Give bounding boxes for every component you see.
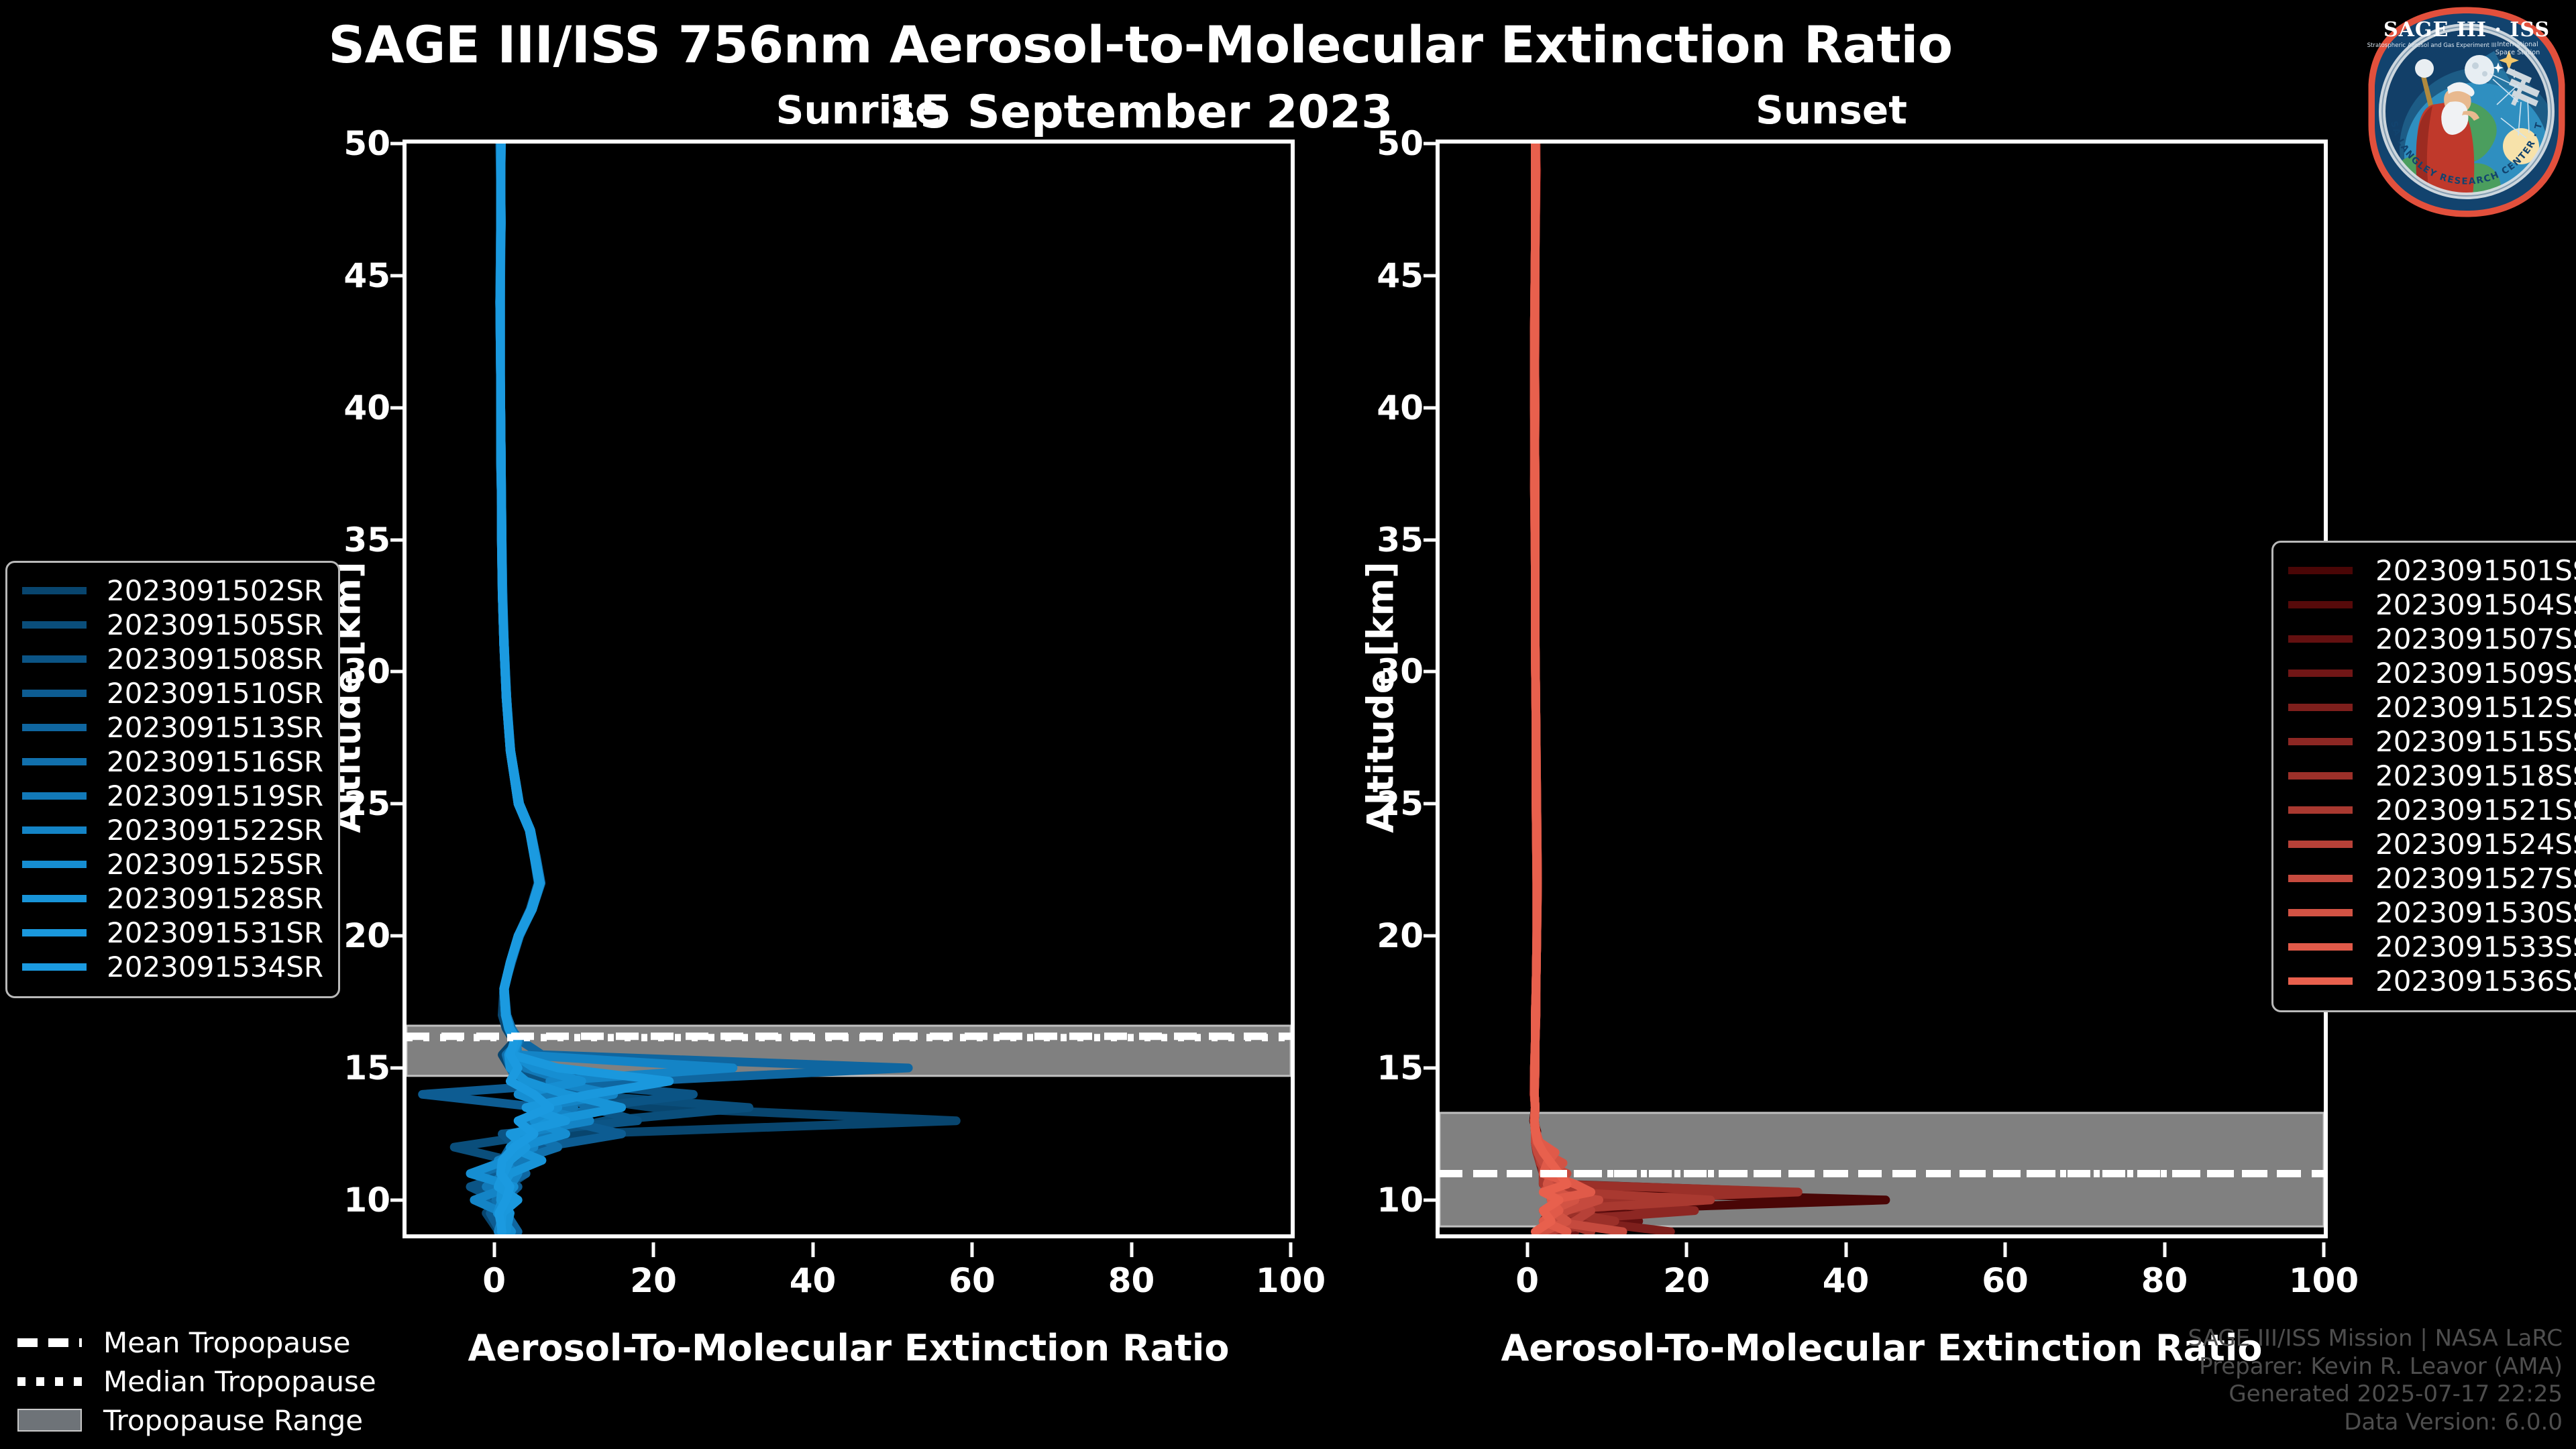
x-tick-mark (1289, 1242, 1293, 1257)
legend-color-swatch (22, 895, 87, 902)
y-tick-mark (390, 274, 402, 277)
y-tick-label: 45 (1316, 256, 1424, 295)
y-tick-label: 35 (283, 521, 390, 559)
legend-item-label: 2023091533SS (2375, 930, 2576, 963)
y-tick-label: 50 (1316, 124, 1424, 163)
legend-item[interactable]: 2023091536SS (2288, 964, 2576, 998)
y-tick-label: 20 (1316, 916, 1424, 955)
legend-item-label: 2023091522SR (107, 814, 323, 847)
y-tick-mark (390, 1198, 402, 1201)
y-tick-label: 10 (283, 1181, 390, 1220)
panel-title-sunrise: Sunrise (718, 87, 1000, 133)
plot-area-sunset (1436, 140, 2328, 1238)
legend-item[interactable]: 2023091527SS (2288, 861, 2576, 896)
y-tick-label: 15 (1316, 1049, 1424, 1087)
legend-color-swatch (2288, 772, 2353, 780)
y-tick-label: 25 (1316, 784, 1424, 823)
credits-line-mission: SAGE III/ISS Mission | NASA LaRC (2188, 1325, 2563, 1353)
x-tick-mark (1130, 1242, 1133, 1257)
legend-item-label: 2023091531SR (107, 916, 323, 949)
legend-item-label: 2023091505SR (107, 608, 323, 641)
legend-color-swatch (22, 861, 87, 868)
legend-color-swatch (2288, 567, 2353, 574)
x-tick-mark (1685, 1242, 1688, 1257)
x-tick-label: 100 (2263, 1261, 2384, 1300)
legend-item[interactable]: 2023091516SR (22, 745, 323, 779)
y-tick-mark (390, 670, 402, 674)
series-line (1534, 144, 1790, 1232)
y-tick-label: 40 (283, 388, 390, 427)
y-tick-mark (390, 934, 402, 938)
panel-sunset: Altitude [km] Aerosol-To-Molecular Extin… (1436, 140, 2328, 1238)
legend-color-swatch (22, 621, 87, 629)
legend-item[interactable]: 2023091522SR (22, 813, 323, 847)
tropopause-range-label: Tropopause Range (103, 1404, 363, 1437)
patch-subtitle-right-1: International (2497, 41, 2538, 48)
series-line (1534, 144, 1591, 1232)
legend-color-swatch (2288, 738, 2353, 745)
x-tick-mark (1525, 1242, 1529, 1257)
legend-item-label: 2023091504SS (2375, 588, 2576, 621)
y-tick-mark (1424, 1066, 1436, 1069)
figure-canvas: SAGE III/ISS 756nm Aerosol-to-Molecular … (0, 0, 2576, 1449)
legend-item[interactable]: 2023091531SR (22, 916, 323, 950)
moon-icon (2465, 55, 2494, 85)
legend-item-label: 2023091502SR (107, 574, 323, 607)
legend-item-label: 2023091525SR (107, 848, 323, 881)
legend-item[interactable]: 2023091510SR (22, 676, 323, 710)
legend-item-label: 2023091513SR (107, 711, 323, 744)
legend-item[interactable]: 2023091502SR (22, 574, 323, 608)
legend-item-label: 2023091530SS (2375, 896, 2576, 929)
series-canvas-sunrise (407, 144, 1291, 1234)
x-tick-label: 60 (912, 1261, 1032, 1300)
y-tick-mark (1424, 1198, 1436, 1201)
x-tick-label: 0 (1467, 1261, 1588, 1300)
legend-item-label: 2023091512SS (2375, 691, 2576, 724)
median-tropopause-label: Median Tropopause (103, 1365, 376, 1398)
legend-item[interactable]: 2023091504SS (2288, 588, 2576, 622)
legend-item-label: 2023091507SS (2375, 623, 2576, 655)
y-tick-mark (1424, 406, 1436, 409)
legend-row-median-tropopause: Median Tropopause (17, 1362, 376, 1401)
legend-color-swatch (2288, 977, 2353, 985)
legend-item[interactable]: 2023091521SS (2288, 793, 2576, 827)
legend-item-label: 2023091528SR (107, 882, 323, 915)
legend-color-swatch (2288, 635, 2353, 643)
legend-color-swatch (2288, 909, 2353, 916)
legend-color-swatch (2288, 806, 2353, 814)
patch-subtitle-right-2: Space Station (2495, 49, 2540, 56)
series-line (1534, 144, 1695, 1232)
legend-color-swatch (2288, 704, 2353, 711)
legend-item[interactable]: 2023091525SR (22, 847, 323, 881)
legend-item[interactable]: 2023091524SS (2288, 827, 2576, 861)
legend-item-label: 2023091518SS (2375, 759, 2576, 792)
legend-item-label: 2023091516SR (107, 745, 323, 778)
legend-color-swatch (22, 758, 87, 765)
legend-color-swatch (2288, 841, 2353, 848)
x-tick-mark (2163, 1242, 2166, 1257)
x-tick-label: 40 (1786, 1261, 1907, 1300)
legend-item-label: 2023091536SS (2375, 965, 2576, 998)
legend-sunrise[interactable]: 2023091502SR2023091505SR2023091508SR2023… (5, 561, 340, 998)
legend-color-swatch (22, 724, 87, 731)
legend-item[interactable]: 2023091507SS (2288, 622, 2576, 656)
y-tick-label: 40 (1316, 388, 1424, 427)
y-tick-mark (390, 406, 402, 409)
y-tick-mark (1424, 670, 1436, 674)
y-tick-mark (390, 538, 402, 541)
legend-item[interactable]: 2023091533SS (2288, 930, 2576, 964)
panel-sunrise: Altitude [km] Aerosol-To-Molecular Extin… (402, 140, 1295, 1238)
y-tick-mark (390, 802, 402, 806)
y-tick-label: 35 (1316, 521, 1424, 559)
y-tick-label: 50 (283, 124, 390, 163)
legend-color-swatch (22, 655, 87, 663)
legend-item[interactable]: 2023091501SS (2288, 553, 2576, 588)
y-tick-label: 30 (1316, 652, 1424, 691)
series-line (1534, 144, 1670, 1232)
mean-tropopause-label: Mean Tropopause (103, 1326, 350, 1359)
legend-item[interactable]: 2023091528SR (22, 881, 323, 916)
x-tick-mark (652, 1242, 655, 1257)
y-tick-mark (1424, 802, 1436, 806)
y-tick-mark (1424, 538, 1436, 541)
x-tick-label: 100 (1230, 1261, 1351, 1300)
y-tick-label: 45 (283, 256, 390, 295)
credits-line-version: Data Version: 6.0.0 (2188, 1409, 2563, 1437)
x-tick-label: 20 (1626, 1261, 1747, 1300)
legend-item[interactable]: 2023091515SS (2288, 724, 2576, 759)
legend-item[interactable]: 2023091519SR (22, 779, 323, 813)
legend-color-swatch (22, 690, 87, 697)
staff-orb (2415, 59, 2434, 78)
legend-item-label: 2023091501SS (2375, 554, 2576, 587)
legend-item[interactable]: 2023091508SR (22, 642, 323, 676)
series-line (1534, 144, 1710, 1232)
series-line (1534, 144, 1654, 1232)
y-tick-label: 10 (1316, 1181, 1424, 1220)
gray-patch-icon (17, 1413, 82, 1428)
x-tick-label: 60 (1945, 1261, 2065, 1300)
legend-item-label: 2023091521SS (2375, 794, 2576, 826)
x-tick-label: 40 (753, 1261, 873, 1300)
legend-color-swatch (22, 929, 87, 936)
legend-item[interactable]: 2023091530SS (2288, 896, 2576, 930)
series-line (1534, 144, 1575, 1232)
legend-color-swatch (22, 792, 87, 800)
dashed-line-icon (17, 1335, 82, 1350)
x-tick-label: 20 (593, 1261, 714, 1300)
x-tick-mark (811, 1242, 814, 1257)
legend-sunset[interactable]: 2023091501SS2023091504SS2023091507SS2023… (2271, 541, 2576, 1012)
x-tick-mark (2004, 1242, 2007, 1257)
series-line (1534, 144, 1886, 1232)
series-line (1534, 144, 1591, 1232)
panel-title-sunset: Sunset (1690, 87, 1972, 133)
series-line (1534, 144, 1798, 1232)
x-tick-mark (1844, 1242, 1847, 1257)
x-tick-label: 80 (2104, 1261, 2225, 1300)
legend-item-label: 2023091519SR (107, 780, 323, 812)
y-tick-mark (1424, 934, 1436, 938)
legend-item[interactable]: 2023091534SR (22, 950, 323, 984)
legend-color-swatch (2288, 669, 2353, 677)
credits-block: SAGE III/ISS Mission | NASA LaRC Prepare… (2188, 1325, 2563, 1437)
patch-title: SAGE III · ISS (2383, 18, 2550, 42)
legend-item-label: 2023091524SS (2375, 828, 2576, 861)
legend-item-label: 2023091534SR (107, 951, 323, 983)
legend-row-mean-tropopause: Mean Tropopause (17, 1323, 376, 1362)
x-tick-mark (971, 1242, 974, 1257)
x-tick-mark (492, 1242, 496, 1257)
legend-item-label: 2023091515SS (2375, 725, 2576, 758)
legend-row-tropopause-range: Tropopause Range (17, 1401, 376, 1440)
legend-color-swatch (22, 587, 87, 594)
legend-color-swatch (2288, 601, 2353, 608)
tropopause-legend: Mean Tropopause Median Tropopause Tropop… (17, 1323, 376, 1440)
dotted-line-icon (17, 1374, 82, 1389)
series-canvas-sunset (1440, 144, 2324, 1234)
y-tick-mark (1424, 274, 1436, 277)
credits-line-preparer: Preparer: Kevin R. Leavor (AMA) (2188, 1353, 2563, 1381)
legend-item-label: 2023091508SR (107, 643, 323, 676)
figure-title: SAGE III/ISS 756nm Aerosol-to-Molecular … (0, 15, 2281, 74)
legend-color-swatch (2288, 943, 2353, 951)
x-axis-label-sunrise: Aerosol-To-Molecular Extinction Ratio (389, 1327, 1308, 1369)
legend-item[interactable]: 2023091513SR (22, 710, 323, 745)
legend-color-swatch (2288, 875, 2353, 882)
legend-item[interactable]: 2023091505SR (22, 608, 323, 642)
y-tick-mark (1424, 142, 1436, 146)
legend-item[interactable]: 2023091512SS (2288, 690, 2576, 724)
legend-item-label: 2023091527SS (2375, 862, 2576, 895)
y-tick-mark (390, 1066, 402, 1069)
legend-item[interactable]: 2023091518SS (2288, 759, 2576, 793)
y-tick-mark (390, 142, 402, 146)
patch-subtitle-left: Stratospheric Aerosol and Gas Experiment… (2367, 42, 2497, 49)
legend-item-label: 2023091509SS (2375, 657, 2576, 690)
credits-line-generated: Generated 2025-07-17 22:25 (2188, 1381, 2563, 1409)
series-line (1534, 144, 1623, 1232)
legend-color-swatch (22, 826, 87, 834)
sage-iii-iss-mission-patch-logo: BALL · NASA LANGLEY RESEARCH CENTER · TA… (2363, 4, 2571, 220)
series-line (1534, 144, 1591, 1232)
legend-item-label: 2023091510SR (107, 677, 323, 710)
x-tick-mark (2322, 1242, 2326, 1257)
legend-item[interactable]: 2023091509SS (2288, 656, 2576, 690)
y-tick-label: 15 (283, 1049, 390, 1087)
x-tick-label: 0 (434, 1261, 555, 1300)
x-tick-label: 80 (1071, 1261, 1192, 1300)
plot-area-sunrise (402, 140, 1295, 1238)
legend-color-swatch (22, 963, 87, 971)
